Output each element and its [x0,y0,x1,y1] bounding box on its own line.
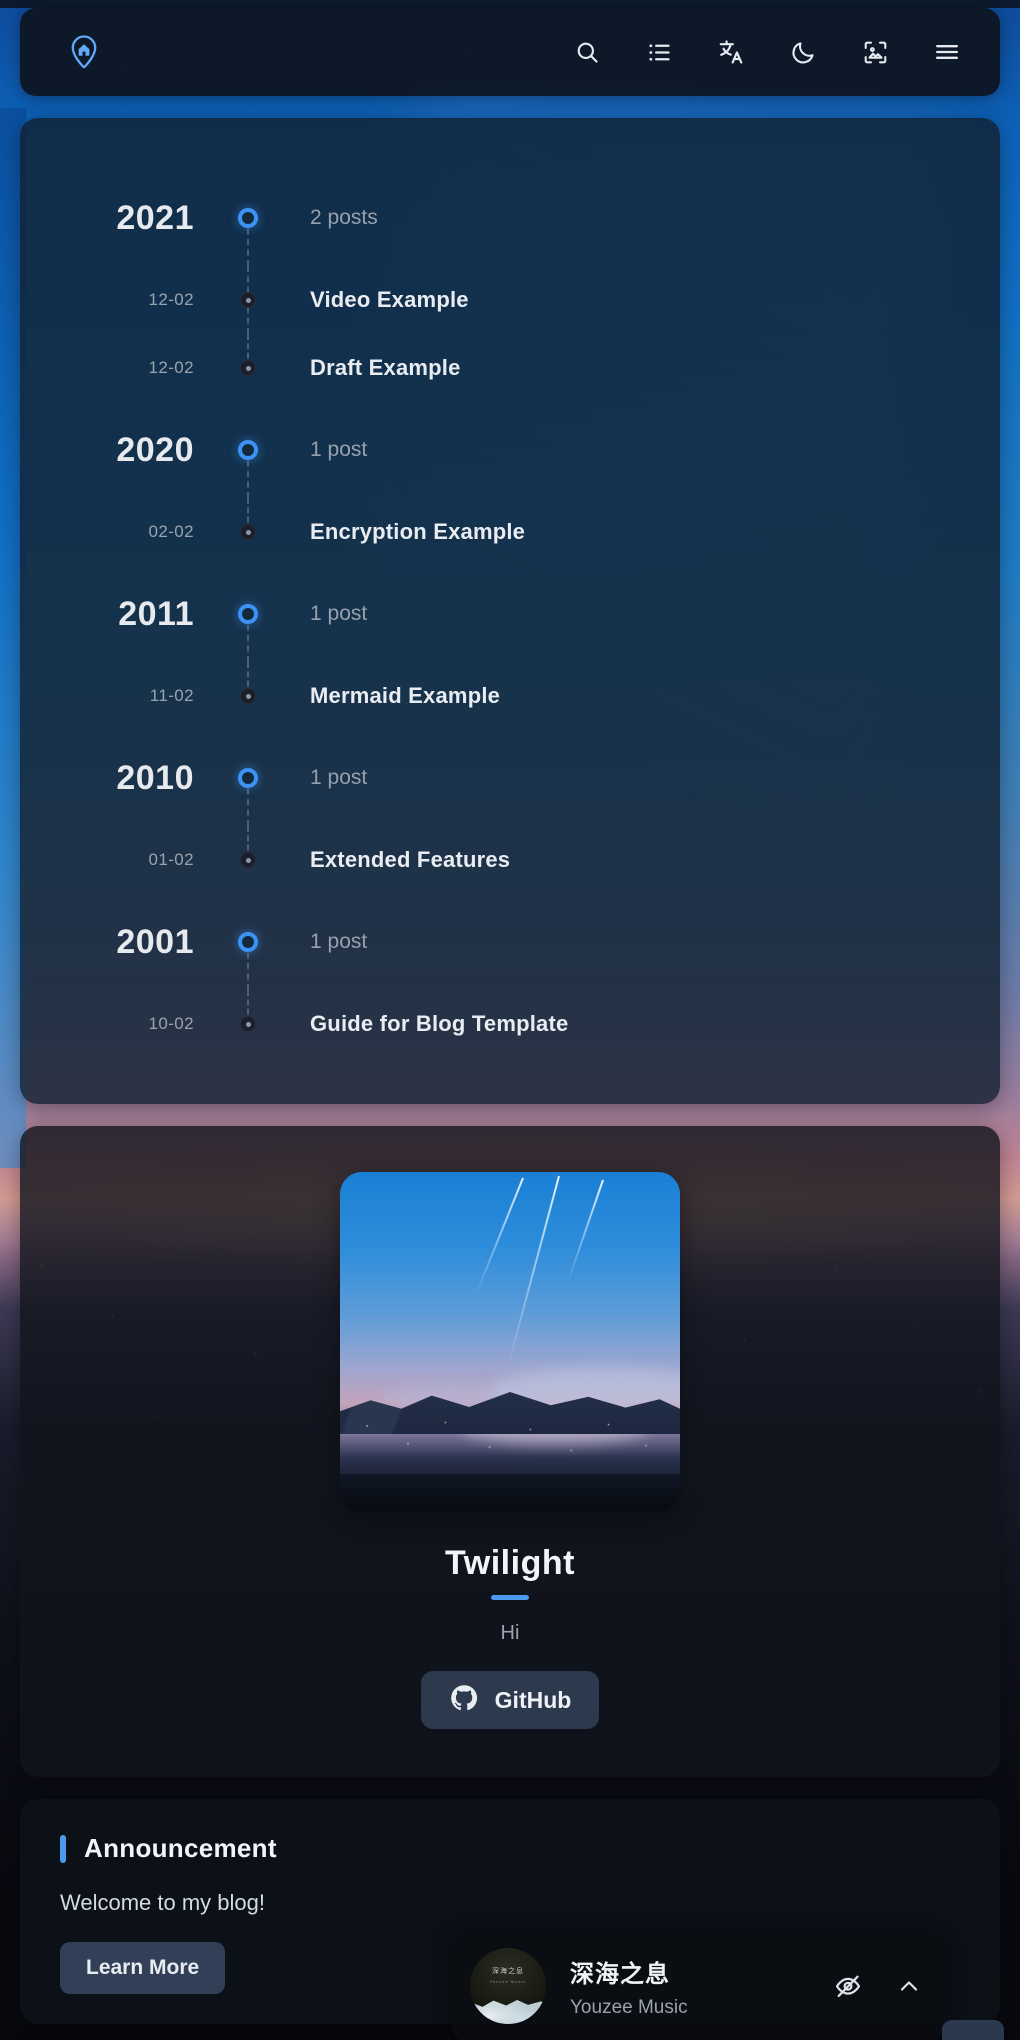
post-count: 1 post [310,602,367,625]
timeline-post-link[interactable]: Encryption Example [276,519,1000,545]
timeline-axis [220,826,276,894]
timeline-year-meta: 1 post [276,438,1000,462]
track-title: 深海之息 [570,1954,834,1989]
timeline-axis [220,402,276,498]
timeline-post-link[interactable]: Video Example [276,287,1000,313]
date-text: 12-02 [149,358,194,377]
year-text: 2010 [116,759,194,797]
timeline-post-dot [240,292,256,308]
timeline-year-row[interactable]: 2001 1 post [20,894,1000,990]
timeline-axis [220,730,276,826]
timeline-year-meta: 1 post [276,602,1000,626]
cover-wave-art [470,1995,546,2024]
timeline-year-dot [238,932,258,952]
eye-off-icon[interactable] [834,1972,862,2000]
timeline-post-link[interactable]: Guide for Blog Template [276,1011,1000,1037]
moon-icon[interactable] [788,37,818,67]
timeline-year-label: 2011 [20,595,220,634]
timeline-year-label: 2021 [20,199,220,238]
timeline-year-meta: 1 post [276,930,1000,954]
post-count: 1 post [310,438,367,461]
timeline-axis [220,662,276,730]
date-text: 12-02 [149,290,194,309]
close-button[interactable] [942,2020,1004,2040]
github-label: GitHub [495,1687,572,1714]
track-artist: Youzee Music [570,1997,834,2019]
cover-title: 深海之息 [470,1966,546,1976]
chevron-up-icon[interactable] [896,1973,922,1999]
timeline-post-row[interactable]: 10-02 Guide for Blog Template [20,990,1000,1058]
date-text: 01-02 [149,850,194,869]
post-title[interactable]: Encryption Example [310,519,525,544]
timeline-date: 12-02 [20,290,220,310]
navbar-actions [572,37,962,67]
timeline-axis [220,894,276,990]
cover-subtitle: Youzee Music [470,1979,546,1984]
timeline-post-row[interactable]: 12-02 Draft Example [20,334,1000,402]
timeline-year-label: 2001 [20,923,220,962]
timeline-axis [220,334,276,402]
title-underline [491,1595,529,1600]
map-pin-home-icon[interactable] [64,32,104,72]
timeline-post-link[interactable]: Extended Features [276,847,1000,873]
timeline-year-meta: 1 post [276,766,1000,790]
year-text: 2020 [116,431,194,469]
date-text: 11-02 [150,686,194,705]
post-title[interactable]: Guide for Blog Template [310,1011,568,1036]
avatar [340,1172,680,1512]
timeline-year-row[interactable]: 2020 1 post [20,402,1000,498]
timeline-post-row[interactable]: 11-02 Mermaid Example [20,662,1000,730]
timeline-axis [220,990,276,1058]
timeline-year-row[interactable]: 2011 1 post [20,566,1000,662]
timeline-post-dot [240,360,256,376]
avatar-foreground [340,1474,680,1512]
album-cover: 深海之息 Youzee Music [470,1948,546,2024]
image-frame-icon[interactable] [860,37,890,67]
profile-bio: Hi [501,1622,520,1645]
timeline-year-label: 2010 [20,759,220,798]
player-controls [834,1972,922,2000]
profile-card: Twilight Hi GitHub [20,1126,1000,1777]
timeline-axis [220,170,276,266]
timeline-year-dot [238,768,258,788]
meteor-streak [506,1176,560,1370]
track-info: 深海之息 Youzee Music [546,1954,834,2019]
timeline-axis [220,566,276,662]
date-text: 02-02 [149,522,194,541]
announcement-title: Announcement [84,1833,277,1864]
timeline-year-meta: 2 posts [276,206,1000,230]
year-text: 2011 [118,595,194,633]
accent-bar [60,1835,66,1863]
search-icon[interactable] [572,37,602,67]
announcement-header: Announcement [60,1833,960,1864]
archive-timeline: 2021 2 posts 12-02 Video Example [20,118,1000,1104]
timeline-axis [220,266,276,334]
post-title[interactable]: Draft Example [310,355,461,380]
avatar-city-lights [340,1412,680,1482]
timeline-year-label: 2020 [20,431,220,470]
timeline-year-dot [238,604,258,624]
post-title[interactable]: Mermaid Example [310,683,500,708]
timeline-year-row[interactable]: 2021 2 posts [20,170,1000,266]
date-text: 10-02 [149,1014,194,1033]
github-button[interactable]: GitHub [421,1671,600,1729]
post-title[interactable]: Video Example [310,287,469,312]
meteor-streak [567,1180,604,1283]
hamburger-menu-icon[interactable] [932,37,962,67]
navbar [20,8,1000,96]
announcement-text: Welcome to my blog! [60,1890,960,1916]
timeline-year-dot [238,440,258,460]
timeline-post-link[interactable]: Draft Example [276,355,1000,381]
timeline-date: 01-02 [20,850,220,870]
close-icon [961,2035,985,2040]
year-text: 2021 [116,199,194,237]
timeline-date: 10-02 [20,1014,220,1034]
github-icon [449,1683,479,1718]
music-player[interactable]: 深海之息 Youzee Music 深海之息 Youzee Music [452,1930,944,2040]
timeline-axis [220,498,276,566]
post-count: 2 posts [310,206,378,229]
meteor-streak [475,1178,524,1296]
timeline-year-dot [238,208,258,228]
timeline-date: 02-02 [20,522,220,542]
timeline-post-row[interactable]: 02-02 Encryption Example [20,498,1000,566]
learn-more-button[interactable]: Learn More [60,1942,225,1994]
list-icon[interactable] [644,37,674,67]
post-title[interactable]: Extended Features [310,847,510,872]
timeline-post-row[interactable]: 12-02 Video Example [20,266,1000,334]
timeline-year-row[interactable]: 2010 1 post [20,730,1000,826]
page-root: 2021 2 posts 12-02 Video Example [0,8,1020,2040]
translate-icon[interactable] [716,37,746,67]
timeline-post-dot [240,524,256,540]
timeline-date: 11-02 [20,686,220,706]
year-text: 2001 [116,923,194,961]
timeline-post-dot [240,1016,256,1032]
post-count: 1 post [310,930,367,953]
timeline-post-row[interactable]: 01-02 Extended Features [20,826,1000,894]
timeline-post-link[interactable]: Mermaid Example [276,683,1000,709]
timeline-date: 12-02 [20,358,220,378]
page-title: Twilight [445,1544,575,1583]
post-count: 1 post [310,766,367,789]
timeline-post-dot [240,688,256,704]
timeline-post-dot [240,852,256,868]
